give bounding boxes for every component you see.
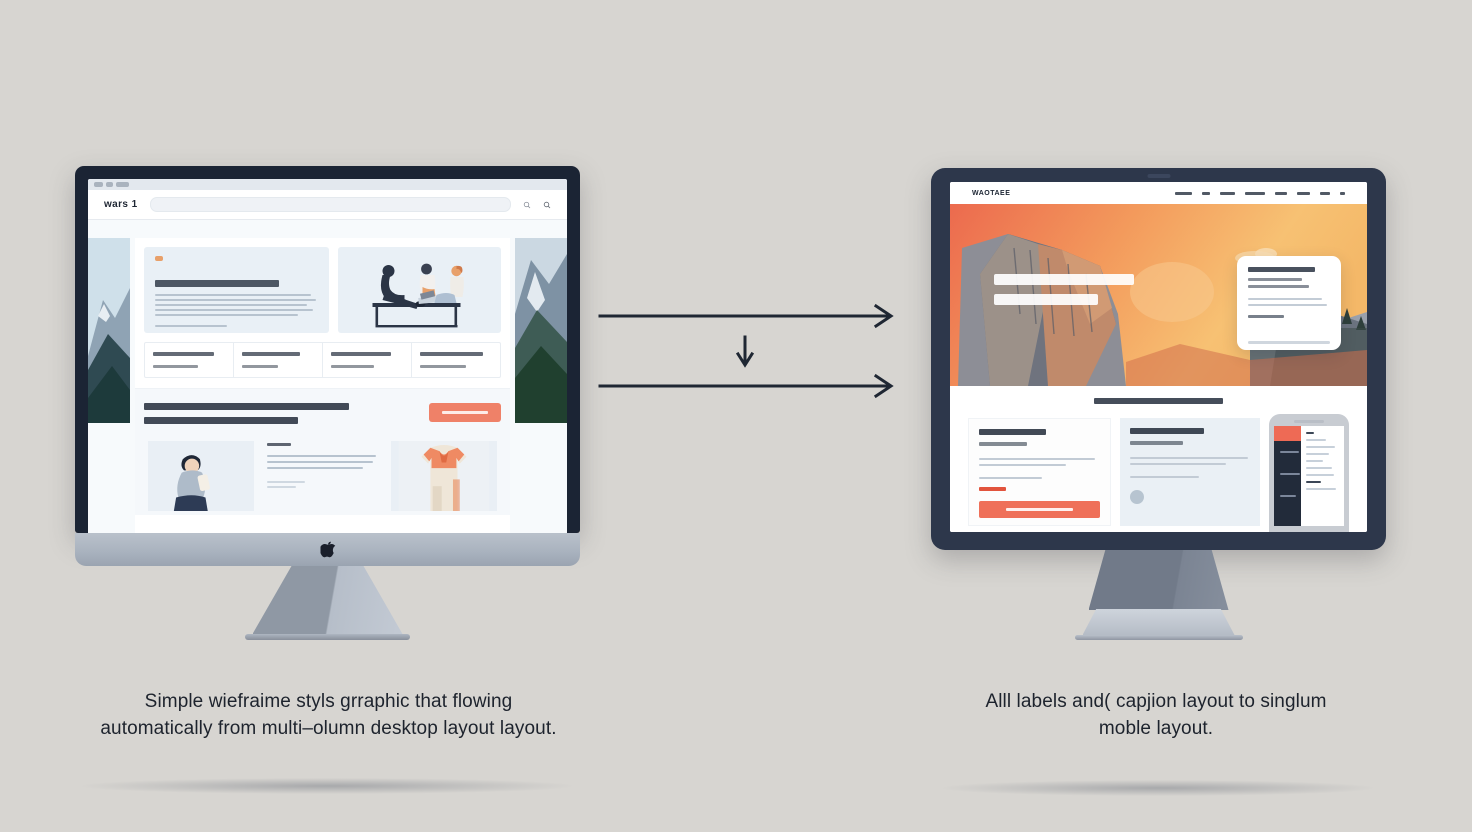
desktop-shadow: [82, 778, 572, 794]
browser-tab[interactable]: [94, 182, 103, 187]
search-icon[interactable]: [543, 201, 551, 209]
browser-tab-bar[interactable]: [88, 179, 567, 190]
hero-card-body: [1248, 298, 1330, 306]
feature-card[interactable]: [234, 343, 323, 377]
card-heading: [979, 429, 1046, 435]
product-row: [144, 437, 501, 515]
hero-title: [994, 274, 1134, 305]
feature-cards-row: [144, 342, 501, 378]
phone-speaker: [1294, 420, 1324, 423]
feature-card[interactable]: [412, 343, 500, 377]
card-cta-button[interactable]: [979, 501, 1100, 518]
tablet-shadow: [943, 780, 1373, 796]
nav-links[interactable]: [1175, 192, 1345, 195]
desktop-content-column: [135, 238, 510, 533]
promo-band: [135, 388, 510, 515]
mobile-phone-preview: [1269, 414, 1349, 532]
site-logo[interactable]: WAOTAEE: [972, 190, 1010, 197]
clothing-garment-illustration: [387, 437, 501, 515]
hero-card-link[interactable]: [1248, 315, 1284, 318]
search-icon-small[interactable]: [523, 201, 531, 209]
phone-content: [1301, 426, 1344, 526]
caption-right: Alll labels and( capjion layout to singl…: [960, 688, 1352, 742]
browser-tab[interactable]: [106, 182, 113, 187]
section-title: [1094, 398, 1224, 404]
cards-row: [968, 418, 1349, 532]
hero-floating-card: [1237, 256, 1341, 350]
site-header: wars 1: [88, 190, 567, 220]
imac-stand: [253, 566, 403, 634]
tablet-base: [1075, 635, 1243, 640]
imac-base: [245, 634, 410, 640]
desktop-viewport: wars 1: [88, 179, 567, 533]
card-heading: [1130, 428, 1205, 434]
card-subheading: [979, 442, 1027, 446]
card-subheading: [1130, 441, 1183, 445]
desktop-page-body: [88, 220, 567, 533]
apple-logo: [320, 540, 335, 558]
card-body: [979, 458, 1100, 466]
yosemite-sunset-illustration: [950, 204, 1367, 386]
card-note: [1130, 476, 1200, 478]
hero-heading: [155, 280, 279, 287]
mountain-photo-right: [515, 238, 567, 423]
imac-screen-frame: wars 1: [75, 166, 580, 533]
orange-badge: [155, 256, 163, 261]
search-input[interactable]: [150, 197, 511, 212]
product-text-title: [267, 443, 291, 446]
mobile-site-nav: WAOTAEE: [950, 182, 1367, 204]
promo-headline: [144, 403, 429, 424]
tablet-monitor: WAOTAEE: [931, 168, 1386, 640]
tablet-stand-foot: [1083, 609, 1235, 635]
person-reading-illustration: [144, 437, 258, 515]
phone-sidebar: [1274, 426, 1301, 526]
hero-text-card: [144, 247, 329, 333]
product-text: [267, 437, 378, 515]
tablet-frame: WAOTAEE: [931, 168, 1386, 550]
avatar-circle: [1130, 490, 1144, 504]
follow-us-button[interactable]: [429, 403, 501, 422]
phone-header-bar: [1274, 426, 1301, 441]
hero-card-sub: [1248, 278, 1330, 288]
scene: wars 1: [0, 0, 1472, 832]
feature-card[interactable]: [323, 343, 412, 377]
feature-card[interactable]: [145, 343, 234, 377]
people-on-bench-illustration: [338, 247, 501, 333]
tablet-stand: [1089, 550, 1229, 610]
white-feature-card[interactable]: [968, 418, 1111, 526]
site-logo[interactable]: wars 1: [104, 199, 138, 210]
features-section: [950, 386, 1367, 532]
camera-icon: [1147, 174, 1170, 178]
imac-chin: [75, 533, 580, 566]
browser-tab[interactable]: [116, 182, 129, 187]
hero-row: [135, 238, 510, 333]
caption-left: Simple wiefraime styls grraphic that flo…: [96, 688, 561, 742]
desktop-monitor: wars 1: [75, 166, 580, 640]
card-link[interactable]: [979, 487, 1006, 491]
hero-card-heading: [1248, 267, 1315, 272]
promo-band-header: [144, 403, 501, 424]
card-note: [979, 477, 1042, 479]
transition-arrows: [598, 300, 904, 400]
hero-card-footer-bar: [1248, 341, 1330, 344]
card-body: [1130, 457, 1251, 465]
phone-screen: [1274, 426, 1344, 526]
grey-feature-card[interactable]: [1120, 418, 1261, 526]
tablet-viewport: WAOTAEE: [950, 182, 1367, 532]
mountain-photo-left: [88, 238, 130, 423]
hero-paragraph: [155, 294, 318, 327]
